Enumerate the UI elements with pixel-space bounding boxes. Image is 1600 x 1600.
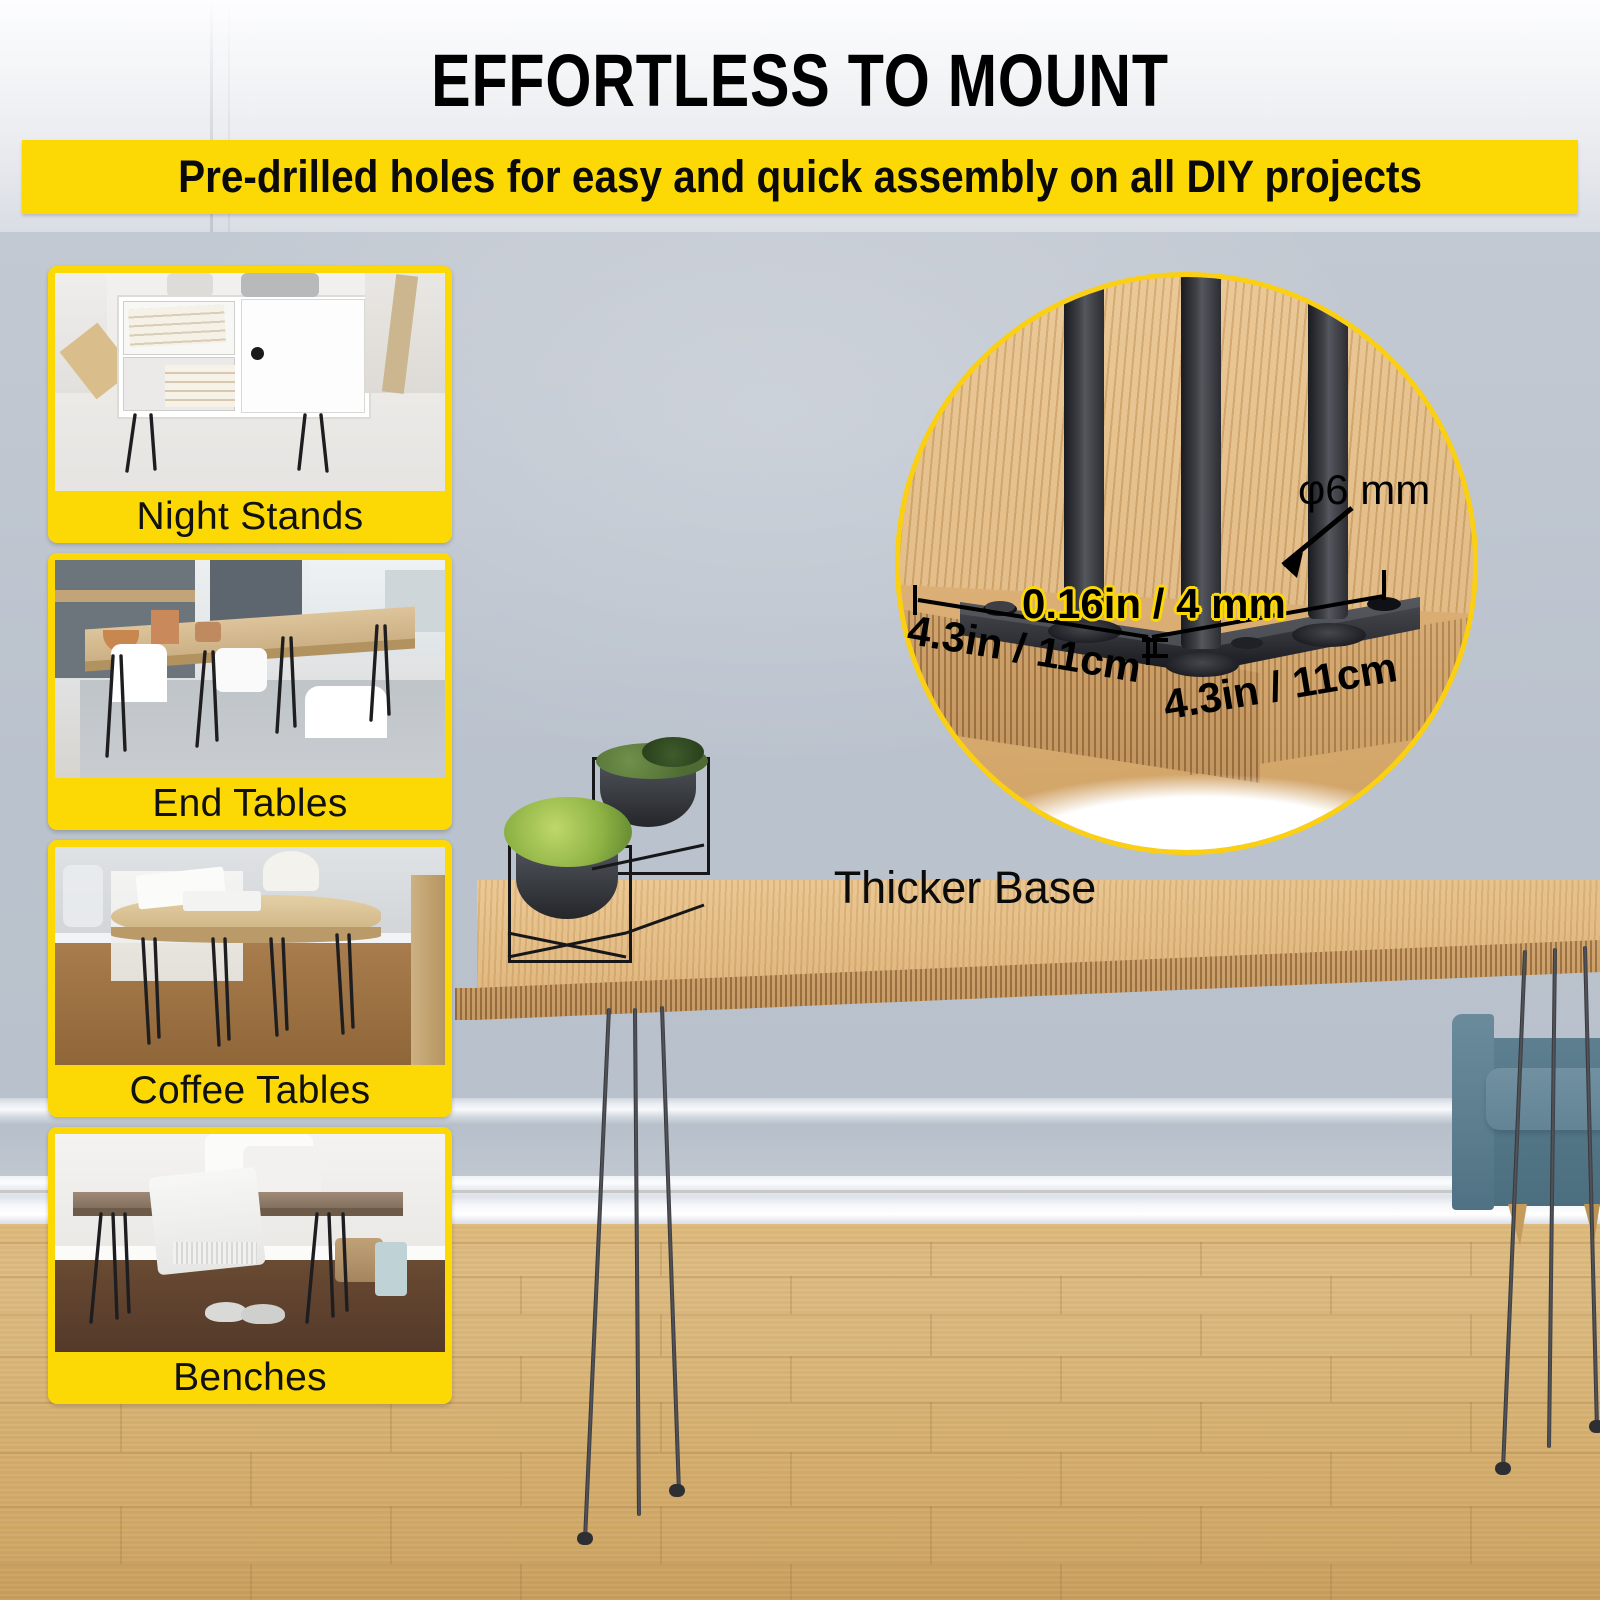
floor-plank-seam xyxy=(1330,1564,1332,1600)
floor-plank-seam xyxy=(1060,1564,1062,1600)
hairpin-leg-rod xyxy=(1583,946,1599,1428)
hairpin-leg-rod xyxy=(583,1008,611,1540)
callout-caption-text: Thicker Base xyxy=(834,862,1097,914)
floor-plank-line xyxy=(0,1564,1600,1566)
use-case-card[interactable]: Night Stands xyxy=(48,266,452,543)
use-case-card[interactable]: Coffee Tables xyxy=(48,840,452,1117)
hairpin-leg-foot xyxy=(669,1484,685,1497)
floor-plank-seam xyxy=(250,1564,252,1600)
dining-hairpin-leg xyxy=(55,560,445,778)
subtitle-banner: Pre-drilled holes for easy and quick ass… xyxy=(22,140,1578,214)
use-case-label: Benches xyxy=(55,1352,445,1404)
use-case-photo xyxy=(55,1134,445,1352)
use-case-card-list: Night StandsEnd TablesCoffee TablesBench… xyxy=(48,266,452,1414)
hole-diameter-label: φ6 mm xyxy=(1298,466,1430,514)
floor-plank-seam xyxy=(390,1506,392,1564)
hairpin-leg-rod xyxy=(660,1006,681,1492)
slab-table-hairpin-leg xyxy=(55,847,445,1065)
floor-plank-seam xyxy=(790,1564,792,1600)
use-case-card[interactable]: End Tables xyxy=(48,553,452,830)
hairpin-leg-rod xyxy=(633,1008,641,1516)
use-case-card[interactable]: Benches xyxy=(48,1127,452,1404)
page-title: EFFORTLESS TO MOUNT xyxy=(160,44,1440,118)
hairpin-leg-foot xyxy=(1495,1462,1511,1475)
use-case-photo xyxy=(55,273,445,491)
floor-plank-seam xyxy=(120,1506,122,1564)
use-case-label: Night Stands xyxy=(55,491,445,543)
hairpin-leg-foot xyxy=(1589,1420,1600,1433)
plate-thickness-label: 0.16in / 4 mm xyxy=(1022,580,1286,628)
product-marketing-image: 0.16in / 4 mm4.3in / 11cm4.3in / 11cmφ6 … xyxy=(0,0,1600,1600)
use-case-photo xyxy=(55,560,445,778)
hairpin-leg-foot xyxy=(577,1532,593,1545)
subtitle-banner-text: Pre-drilled holes for easy and quick ass… xyxy=(178,151,1422,203)
use-case-label: End Tables xyxy=(55,778,445,830)
hairpin-leg-rod xyxy=(1501,950,1527,1470)
floor-plank-seam xyxy=(250,1452,252,1506)
bench-hairpin-leg xyxy=(55,1134,445,1352)
hairpin-leg-rod xyxy=(1547,948,1557,1448)
use-case-photo xyxy=(55,847,445,1065)
wood-panel-right xyxy=(411,875,445,1065)
floor-plank-seam xyxy=(520,1564,522,1600)
use-case-label: Coffee Tables xyxy=(55,1065,445,1117)
